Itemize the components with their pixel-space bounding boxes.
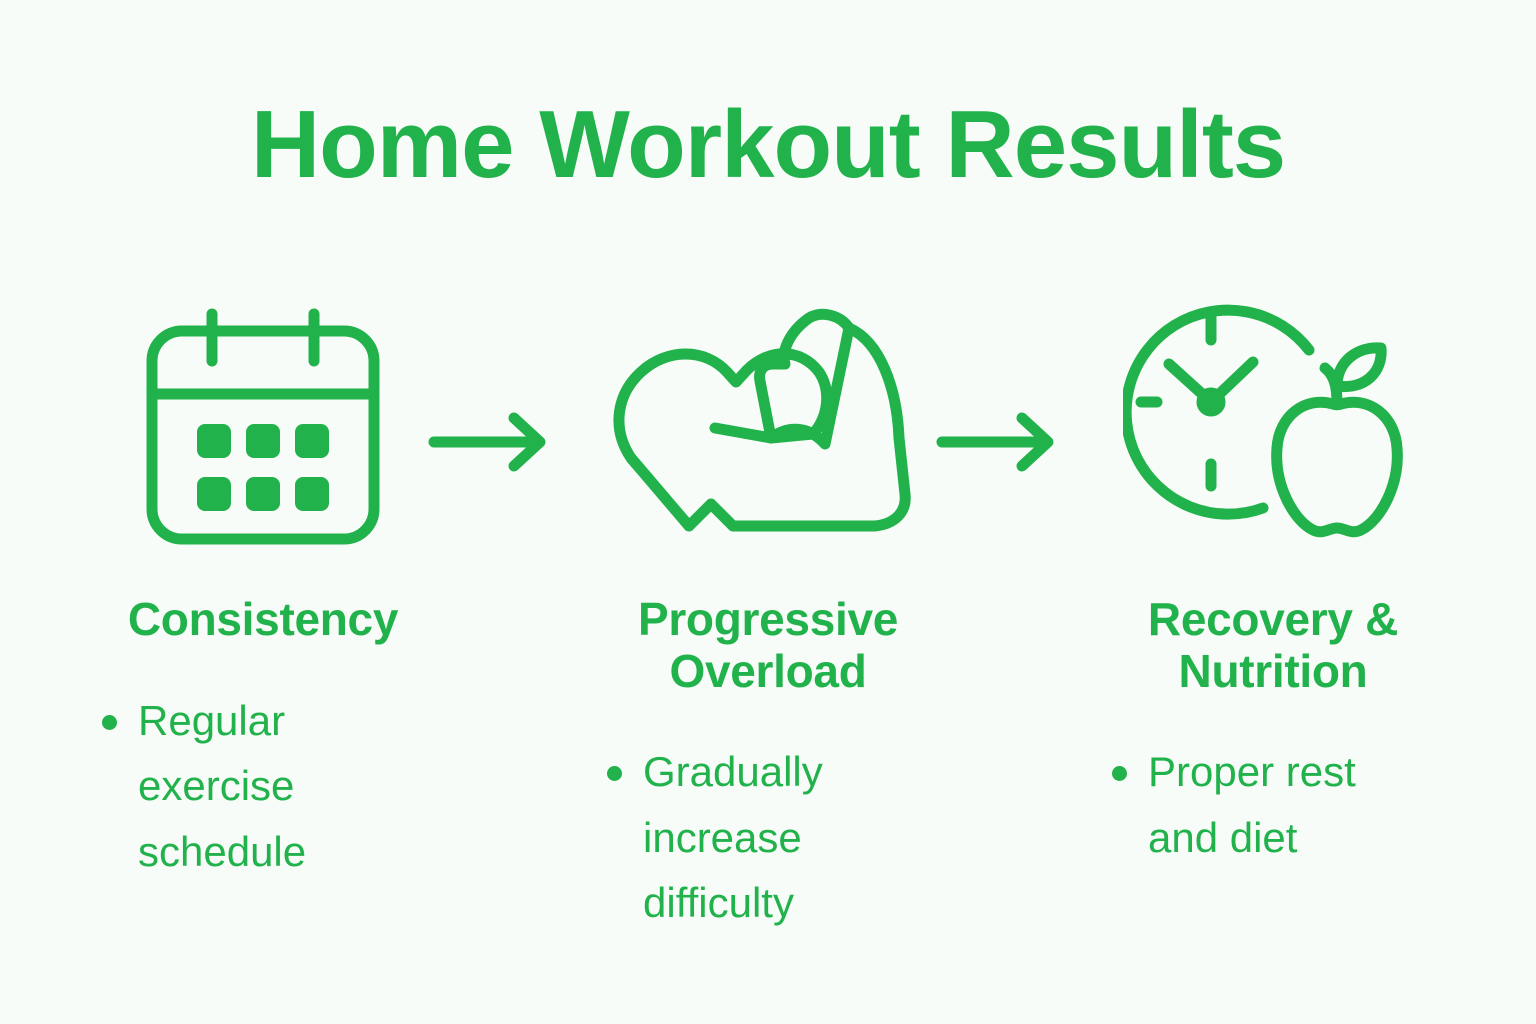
- bullet-list: Gradually increase difficulty: [595, 739, 925, 936]
- list-item-label: Proper rest and diet: [1148, 748, 1356, 861]
- clock-apple-icon: [1123, 288, 1423, 556]
- list-item: Proper rest and diet: [1100, 739, 1430, 870]
- calendar-icon: [139, 288, 387, 556]
- bullet-dot-icon: [102, 715, 117, 730]
- bullet-dot-icon: [1112, 766, 1127, 781]
- column-consistency: Consistency Regular exercise schedule: [48, 288, 478, 884]
- flexed-bicep-icon: [613, 288, 923, 556]
- list-item: Regular exercise schedule: [90, 688, 420, 885]
- column-progressive-overload: Progressive Overload Gradually increase …: [553, 288, 983, 936]
- column-recovery-nutrition: Recovery & Nutrition Proper rest and die…: [1058, 288, 1488, 870]
- list-item-label: Regular exercise schedule: [138, 697, 306, 875]
- list-item-label: Gradually increase difficulty: [643, 748, 823, 926]
- page-title: Home Workout Results: [0, 92, 1536, 198]
- column-heading: Progressive Overload: [603, 594, 933, 697]
- column-heading: Consistency: [98, 594, 428, 646]
- arrow-right-icon: [936, 412, 1060, 472]
- list-item: Gradually increase difficulty: [595, 739, 925, 936]
- bullet-dot-icon: [607, 766, 622, 781]
- bullet-list: Proper rest and diet: [1100, 739, 1430, 870]
- columns-container: Consistency Regular exercise schedule: [0, 288, 1536, 968]
- infographic-page: Home Workout Results: [0, 0, 1536, 1024]
- column-heading: Recovery & Nutrition: [1108, 594, 1438, 697]
- arrow-right-icon: [428, 412, 552, 472]
- bullet-list: Regular exercise schedule: [90, 688, 420, 885]
